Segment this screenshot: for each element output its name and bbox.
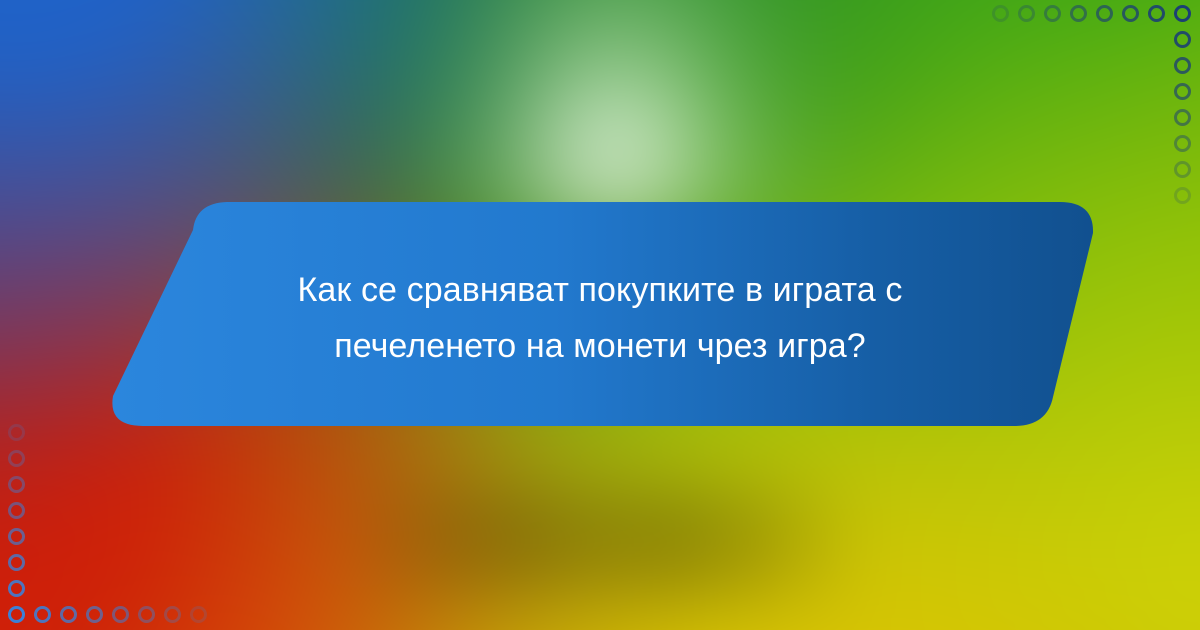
- social-share-card: Как се сравняват покупките в играта спеч…: [0, 0, 1200, 630]
- bubble-question-text: Как се сравняват покупките в играта спеч…: [180, 262, 1020, 374]
- question-line-1: Как се сравняват покупките в играта с: [298, 271, 903, 309]
- question-line-2: печеленето на монети чрез игра?: [334, 327, 866, 365]
- speech-bubble: Как се сравняват покупките в играта спеч…: [0, 0, 1200, 630]
